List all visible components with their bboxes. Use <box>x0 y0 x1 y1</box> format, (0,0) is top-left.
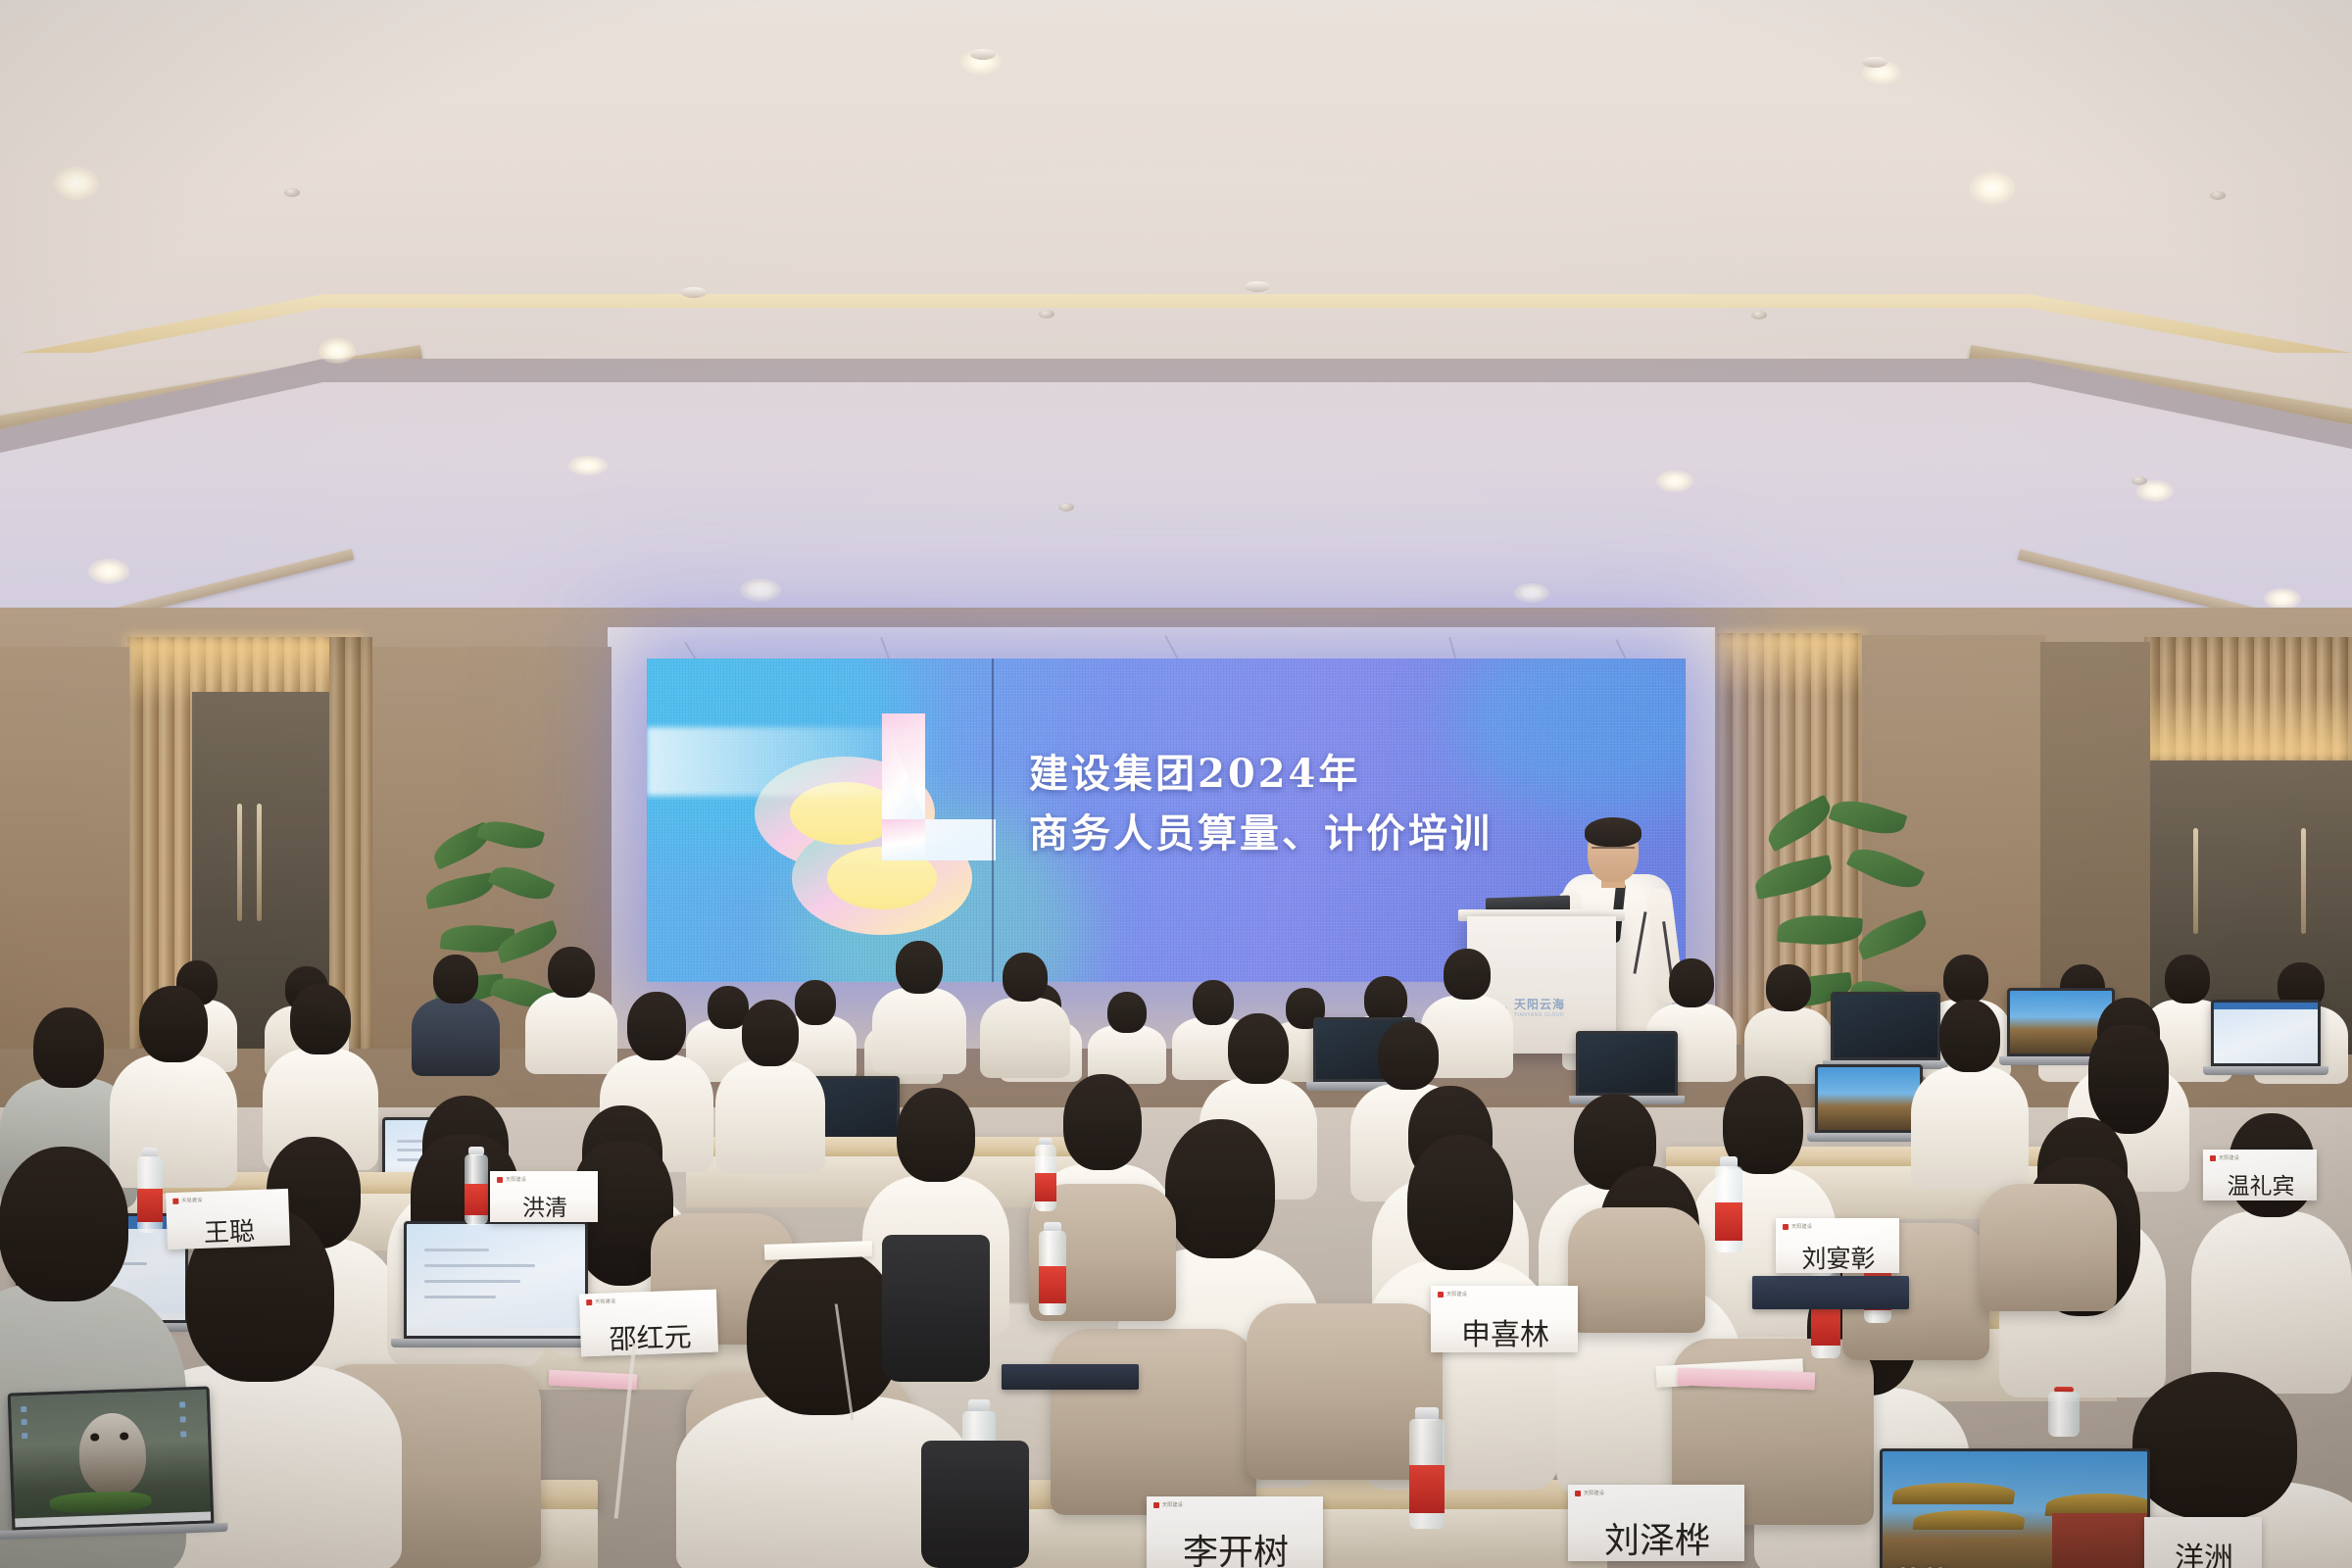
name-card-org: 天阳建设 <box>1162 1501 1183 1508</box>
person-head <box>1444 949 1491 1000</box>
bottle-label <box>1715 1202 1742 1241</box>
name-card-logo: 天阳建设 <box>1783 1223 1812 1230</box>
laptop-left-doc[interactable] <box>404 1221 588 1339</box>
name-card-logo: 天阳建设 <box>1153 1501 1183 1508</box>
person <box>980 953 1070 1074</box>
name-card-logo: 天阳建设 <box>586 1298 615 1305</box>
laptop-wallpaper <box>1579 1034 1675 1093</box>
person-head <box>2097 998 2160 1070</box>
person-head <box>1378 1021 1439 1090</box>
name-card: 天阳建设 温礼宾 <box>2203 1150 2317 1200</box>
owl-eye-right <box>120 1433 128 1441</box>
leaf <box>1762 795 1837 853</box>
bottle-label <box>1035 1173 1056 1202</box>
person-head <box>747 1247 900 1415</box>
person-head <box>139 986 208 1062</box>
sprinkler-5 <box>2131 476 2147 485</box>
name-card-name: 李开树 <box>1152 1536 1319 1568</box>
laptop-base <box>391 1339 601 1347</box>
bottle-label <box>137 1189 163 1222</box>
person-head <box>896 941 943 994</box>
sprinkler-2 <box>1039 310 1054 318</box>
name-card: 天阳建设 李开树 <box>1147 1496 1323 1568</box>
name-card-name: 王聪 <box>172 1218 286 1248</box>
water-bottle[interactable] <box>1715 1166 1742 1252</box>
person-head <box>1228 1013 1289 1084</box>
notebook[interactable] <box>1002 1364 1139 1390</box>
sprinkler-4 <box>2210 191 2226 200</box>
person-torso <box>412 998 500 1076</box>
leaf <box>1846 840 1926 897</box>
sprinkler-3 <box>1751 311 1767 319</box>
pagoda-roof-shape <box>1891 1483 2016 1504</box>
name-card-logo: 天阳建设 <box>1575 1490 1604 1496</box>
person-head <box>1669 958 1714 1007</box>
chair[interactable] <box>1980 1184 2117 1311</box>
downlight-1 <box>54 167 99 200</box>
name-card: 天阳建设 申喜林 <box>1431 1286 1578 1352</box>
water-bottle[interactable] <box>1409 1419 1445 1529</box>
person-torso <box>715 1060 825 1174</box>
name-card-org: 天阳建设 <box>1446 1291 1467 1298</box>
name-card-name: 刘宴彰 <box>1782 1247 1895 1271</box>
name-card-org: 天阳建设 <box>181 1197 202 1204</box>
laptop-screen <box>404 1221 588 1339</box>
name-card-org: 天阳建设 <box>1584 1490 1604 1496</box>
screen-highlight-haze <box>647 727 941 796</box>
person-head <box>1364 976 1407 1023</box>
sprinkler-6 <box>1058 503 1074 512</box>
person-head <box>1943 955 1988 1004</box>
bottle-label <box>1039 1266 1066 1303</box>
logo-square-icon <box>2210 1155 2216 1161</box>
laptop-text-line <box>424 1280 520 1283</box>
person-head <box>2132 1372 2297 1519</box>
presenter-hair <box>1585 817 1641 847</box>
person-head <box>897 1088 975 1182</box>
name-card-org: 天阳建设 <box>595 1298 615 1305</box>
bottle-label <box>1811 1303 1840 1345</box>
name-card-name: 温礼宾 <box>2209 1176 2313 1199</box>
laptop-wallpaper <box>2214 1003 2318 1063</box>
podium-logo-text: 天阳云海 <box>1514 996 1565 1012</box>
laptop-text-line <box>424 1296 496 1298</box>
person-torso <box>872 988 966 1074</box>
bottle-body <box>2048 1392 2080 1437</box>
laptop-screen: 08:32 <box>1880 1448 2150 1568</box>
logo-square-icon <box>172 1198 178 1203</box>
ceiling-speaker-4 <box>681 287 707 298</box>
wall-slat-glow-right-b <box>2144 688 2352 760</box>
laptop-owl[interactable] <box>8 1386 215 1530</box>
logo-square-icon <box>1153 1502 1159 1508</box>
water-bottle[interactable] <box>465 1154 488 1225</box>
laptop-edge[interactable] <box>2211 1000 2321 1066</box>
person-head <box>433 955 478 1004</box>
name-card-name: 洋洲 <box>2150 1544 2258 1568</box>
water-bottle[interactable] <box>1035 1145 1056 1211</box>
downlight-5 <box>740 578 781 602</box>
laptop-window-titlebar <box>2214 1003 2318 1009</box>
chair[interactable] <box>1568 1207 1705 1333</box>
name-card-org: 天阳建设 <box>506 1176 526 1183</box>
person <box>715 1000 825 1170</box>
person-torso <box>2191 1211 2352 1394</box>
desktop-icon[interactable] <box>21 1406 26 1412</box>
laptop-text-line <box>424 1264 535 1267</box>
door-handle-right-a[interactable] <box>2193 828 2198 934</box>
downlight-8 <box>1970 171 2015 205</box>
person-torso <box>980 998 1070 1078</box>
person-head <box>1407 1135 1513 1270</box>
desktop-icon[interactable] <box>22 1419 27 1425</box>
conference-room-photo: 建设集团2024年 商务人员算量、计价培训 天阳云海 TIANYANG CLOU… <box>0 0 2352 1568</box>
logo-square-icon <box>1783 1224 1788 1230</box>
person <box>1744 964 1833 1080</box>
name-card: 天阳建设 刘宴彰 <box>1776 1218 1899 1273</box>
downlight-4 <box>568 456 608 475</box>
screen-panel-seam-1 <box>992 659 994 982</box>
person <box>872 941 966 1072</box>
water-bottle[interactable] <box>137 1156 163 1233</box>
podium-logo-subtext: TIANYANG CLOUD <box>1514 1012 1565 1018</box>
pagoda-roof-shape <box>1913 1510 2027 1530</box>
logo-square-icon <box>586 1299 592 1305</box>
pagoda-body <box>2052 1513 2147 1568</box>
backpack[interactable] <box>921 1441 1029 1568</box>
name-card-name: 邵红元 <box>586 1323 714 1355</box>
screen-title-line-1: 建设集团2024年 <box>1029 745 1676 805</box>
ceiling-speaker-2 <box>1862 57 1887 68</box>
sprinkler-1 <box>284 188 300 197</box>
name-card-org: 天阳建设 <box>1791 1223 1812 1230</box>
lockscreen-clock: 08:32 <box>1898 1564 1945 1568</box>
logo-square-icon <box>497 1177 503 1183</box>
desktop-icon[interactable] <box>180 1431 186 1437</box>
door-handle-left-b[interactable] <box>257 804 262 921</box>
downlight-11 <box>1514 583 1549 603</box>
downlight-12 <box>2264 588 2301 610</box>
laptop-text-line <box>424 1249 489 1251</box>
person-head <box>1165 1119 1275 1258</box>
person-head <box>2165 955 2210 1004</box>
chair[interactable] <box>1051 1329 1256 1515</box>
backpack[interactable] <box>882 1235 990 1382</box>
ceiling-speaker-3 <box>1245 281 1270 292</box>
person-head <box>548 947 595 998</box>
downlight-9 <box>1656 470 1693 492</box>
laptop-taskbar[interactable] <box>407 1328 585 1336</box>
desktop-icon[interactable] <box>22 1432 27 1438</box>
leaf <box>487 858 555 907</box>
name-card: 天阳建设 王聪 <box>166 1189 290 1249</box>
leaf <box>1853 909 1931 960</box>
owl-eye-left <box>90 1434 99 1442</box>
name-card: 洋洲 <box>2144 1517 2262 1568</box>
laptop-screen <box>8 1386 215 1530</box>
logo-square-icon <box>1438 1292 1444 1298</box>
name-card-logo: 天阳建设 <box>172 1197 202 1204</box>
person-head <box>742 1000 799 1066</box>
water-bottle[interactable] <box>2048 1392 2080 1437</box>
door-handle-right-b[interactable] <box>2301 828 2306 934</box>
name-card: 天阳建设 刘泽桦 <box>1568 1485 1744 1561</box>
bottle-label <box>1409 1465 1445 1513</box>
laptop-base <box>2203 1066 2328 1075</box>
name-card-org: 天阳建设 <box>2219 1154 2239 1161</box>
logo-square-icon <box>1575 1491 1581 1496</box>
name-card: 天阳建设 邵红元 <box>579 1290 718 1357</box>
person <box>1088 992 1166 1080</box>
leaf <box>423 872 495 909</box>
person-head <box>627 992 686 1060</box>
leaf <box>1752 855 1835 900</box>
laptop-screen <box>2211 1000 2321 1066</box>
laptop-screen <box>1576 1031 1678 1096</box>
desktop-icon[interactable] <box>180 1416 186 1422</box>
water-bottle[interactable] <box>1039 1231 1066 1315</box>
desktop-icon[interactable] <box>179 1401 185 1407</box>
name-card-name: 申喜林 <box>1437 1321 1574 1350</box>
name-card-logo: 天阳建设 <box>1438 1291 1467 1298</box>
downlight-2 <box>318 338 356 364</box>
name-card-logo: 天阳建设 <box>497 1176 526 1183</box>
person-head <box>33 1007 104 1088</box>
person-head <box>1003 953 1048 1002</box>
laptop-lockscreen[interactable]: 08:32 <box>1880 1448 2150 1568</box>
person-head <box>1107 992 1147 1033</box>
downlight-3 <box>88 559 129 584</box>
person <box>412 955 500 1072</box>
person-head <box>0 1147 128 1301</box>
wall-slat-glow-right-a <box>1717 633 1862 696</box>
notebook[interactable] <box>1752 1276 1909 1309</box>
presenter-glasses <box>1592 847 1635 857</box>
ceiling-speaker-1 <box>970 49 996 60</box>
person-head <box>1939 1000 2000 1072</box>
leaf <box>1777 912 1863 948</box>
bottle-label <box>465 1184 488 1215</box>
name-card-name: 洪清 <box>496 1198 594 1220</box>
name-card: 天阳建设 洪清 <box>490 1171 598 1222</box>
name-card-logo: 天阳建设 <box>2210 1154 2239 1161</box>
door-handle-left-a[interactable] <box>237 804 242 921</box>
person-head <box>290 984 351 1054</box>
person-head <box>1766 964 1811 1011</box>
name-card-name: 刘泽桦 <box>1574 1524 1740 1559</box>
laptop-right-a[interactable] <box>1576 1031 1678 1096</box>
